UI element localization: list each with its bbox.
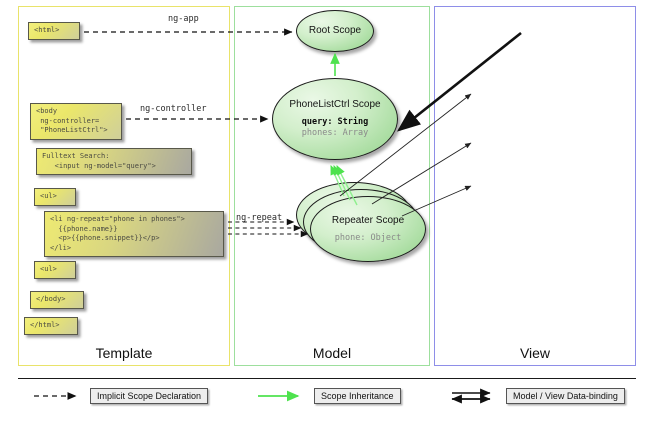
code-box-ul-close: <ul>: [34, 261, 76, 279]
diagram-canvas: Template Model View <html> <body ng-cont…: [0, 0, 645, 425]
legend-label: Scope Inheritance: [314, 388, 401, 404]
legend-divider: [18, 378, 636, 379]
panel-view: View: [434, 6, 636, 366]
scope-prop-phone: phone: Object: [335, 233, 402, 244]
scope-prop-phones: phones: Array: [302, 128, 369, 139]
legend-item-scope-inheritance: Scope Inheritance: [256, 388, 401, 404]
scope-repeater-title: Repeater Scope: [332, 215, 404, 227]
scope-phonelistctrl: PhoneListCtrl Scope query: String phones…: [272, 78, 398, 160]
legend-label: Model / View Data-binding: [506, 388, 625, 404]
scope-phonelistctrl-props: query: String phones: Array: [302, 117, 369, 139]
legend-item-implicit-scope-declaration: Implicit Scope Declaration: [32, 388, 208, 404]
legend-item-model-view-data-binding: Model / View Data-binding: [448, 388, 625, 404]
dashed-arrow-icon: [32, 388, 84, 404]
code-box-html-open: <html>: [28, 22, 80, 40]
code-box-html-close: </html>: [24, 317, 78, 335]
panel-template: Template: [18, 6, 230, 366]
scope-prop-query: query: String: [302, 117, 369, 128]
code-box-li-ng-repeat: <li ng-repeat="phone in phones"> {{phone…: [44, 211, 224, 257]
scope-repeater-props: phone: Object: [335, 233, 402, 244]
legend: Implicit Scope Declaration Scope Inherit…: [18, 386, 636, 416]
scope-phonelistctrl-title: PhoneListCtrl Scope: [289, 99, 380, 111]
code-box-body-close: </body>: [30, 291, 84, 309]
legend-label: Implicit Scope Declaration: [90, 388, 208, 404]
code-box-ul-open: <ul>: [34, 188, 76, 206]
panel-model-label: Model: [235, 345, 429, 361]
double-arrow-icon: [448, 388, 500, 404]
edge-label-ng-repeat: ng-repeat: [236, 213, 282, 223]
scope-root-title: Root Scope: [309, 25, 361, 37]
green-arrow-icon: [256, 388, 308, 404]
scope-root: Root Scope: [296, 10, 374, 52]
scope-repeater: Repeater Scope phone: Object: [310, 196, 426, 262]
panel-view-label: View: [435, 345, 635, 361]
code-box-fulltext-search: Fulltext Search: <input ng-model="query"…: [36, 148, 192, 175]
panel-template-label: Template: [19, 345, 229, 361]
code-box-body-open: <body ng-controller= "PhoneListCtrl">: [30, 103, 122, 140]
edge-label-ng-controller: ng-controller: [140, 104, 207, 114]
edge-label-ng-app: ng-app: [168, 14, 199, 24]
